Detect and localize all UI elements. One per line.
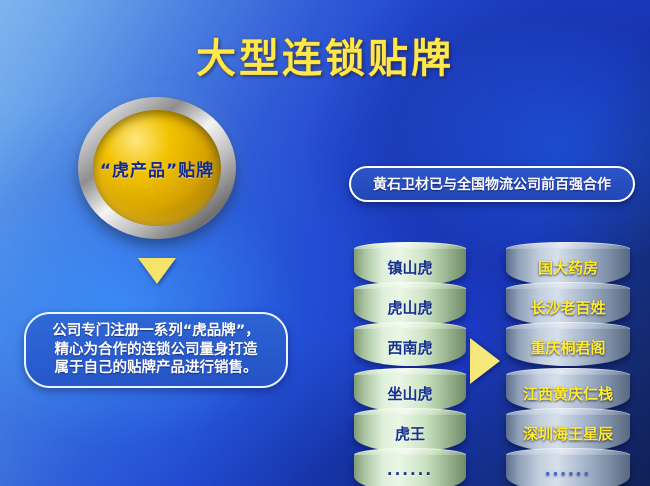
cylinder-body: 重庆桐君阁 bbox=[506, 329, 630, 366]
badge-disc: “虎产品”贴牌 bbox=[93, 110, 221, 226]
logistics-callout-label: 黄石卫材已与全国物流公司前百强合作 bbox=[373, 174, 611, 194]
partner-stack-2: 江西黄庆仁栈 深圳海王星辰 ······ bbox=[506, 375, 630, 486]
product-badge: “虎产品”贴牌 bbox=[78, 97, 236, 239]
cylinder-body: ······ bbox=[354, 455, 466, 486]
partner-cylinder: 长沙老百姓 bbox=[506, 289, 630, 326]
description-note: 公司专门注册一系列“虎品牌”， 精心为合作的连锁公司量身打造 属于自己的贴牌产品… bbox=[24, 312, 288, 388]
note-line-2: 精心为合作的连锁公司量身打造 bbox=[55, 341, 258, 360]
badge-label: “虎产品”贴牌 bbox=[100, 156, 214, 181]
cylinder-body: 国大药房 bbox=[506, 249, 630, 286]
partner-cylinder: 重庆桐君阁 bbox=[506, 329, 630, 366]
brand-label: 镇山虎 bbox=[387, 257, 432, 278]
brand-label: 虎王 bbox=[395, 423, 425, 444]
partner-label: 深圳海王星辰 bbox=[523, 423, 613, 444]
brand-label: 坐山虎 bbox=[387, 383, 432, 404]
partner-label-ellipsis: ······ bbox=[545, 465, 591, 483]
brand-cylinder: ······ bbox=[354, 455, 466, 486]
right-arrow-icon bbox=[470, 338, 500, 384]
partner-cylinder: 深圳海王星辰 bbox=[506, 415, 630, 452]
brand-label-ellipsis: ······ bbox=[387, 465, 433, 483]
brand-cylinder: 坐山虎 bbox=[354, 375, 466, 412]
brand-stack-2: 坐山虎 虎王 ······ bbox=[354, 375, 466, 486]
cylinder-body: 深圳海王星辰 bbox=[506, 415, 630, 452]
brand-cylinder: 虎山虎 bbox=[354, 289, 466, 326]
brand-cylinder: 西南虎 bbox=[354, 329, 466, 366]
note-line-3: 属于自己的贴牌产品进行销售。 bbox=[55, 359, 258, 378]
cylinder-body: 虎王 bbox=[354, 415, 466, 452]
partner-label: 国大药房 bbox=[538, 257, 598, 278]
partner-cylinder: ······ bbox=[506, 455, 630, 486]
partner-cylinder: 江西黄庆仁栈 bbox=[506, 375, 630, 412]
cylinder-body: 长沙老百姓 bbox=[506, 289, 630, 326]
down-arrow-icon bbox=[138, 258, 176, 284]
page-title: 大型连锁贴牌 bbox=[0, 26, 650, 84]
partner-label: 重庆桐君阁 bbox=[530, 337, 605, 358]
brand-cylinder: 虎王 bbox=[354, 415, 466, 452]
cylinder-body: ······ bbox=[506, 455, 630, 486]
cylinder-body: 坐山虎 bbox=[354, 375, 466, 412]
partner-label: 江西黄庆仁栈 bbox=[523, 383, 613, 404]
cylinder-body: 江西黄庆仁栈 bbox=[506, 375, 630, 412]
cylinder-body: 虎山虎 bbox=[354, 289, 466, 326]
partner-label: 长沙老百姓 bbox=[530, 297, 605, 318]
partner-stack-1: 国大药房 长沙老百姓 重庆桐君阁 bbox=[506, 249, 630, 366]
logistics-callout: 黄石卫材已与全国物流公司前百强合作 bbox=[349, 166, 635, 202]
slide-canvas: 大型连锁贴牌 “虎产品”贴牌 公司专门注册一系列“虎品牌”， 精心为合作的连锁公… bbox=[0, 0, 650, 486]
cylinder-body: 西南虎 bbox=[354, 329, 466, 366]
partner-cylinder: 国大药房 bbox=[506, 249, 630, 286]
cylinder-body: 镇山虎 bbox=[354, 249, 466, 286]
brand-cylinder: 镇山虎 bbox=[354, 249, 466, 286]
brand-label: 西南虎 bbox=[387, 337, 432, 358]
brand-stack-1: 镇山虎 虎山虎 西南虎 bbox=[354, 249, 466, 366]
brand-label: 虎山虎 bbox=[387, 297, 432, 318]
note-line-1: 公司专门注册一系列“虎品牌”， bbox=[52, 322, 260, 341]
